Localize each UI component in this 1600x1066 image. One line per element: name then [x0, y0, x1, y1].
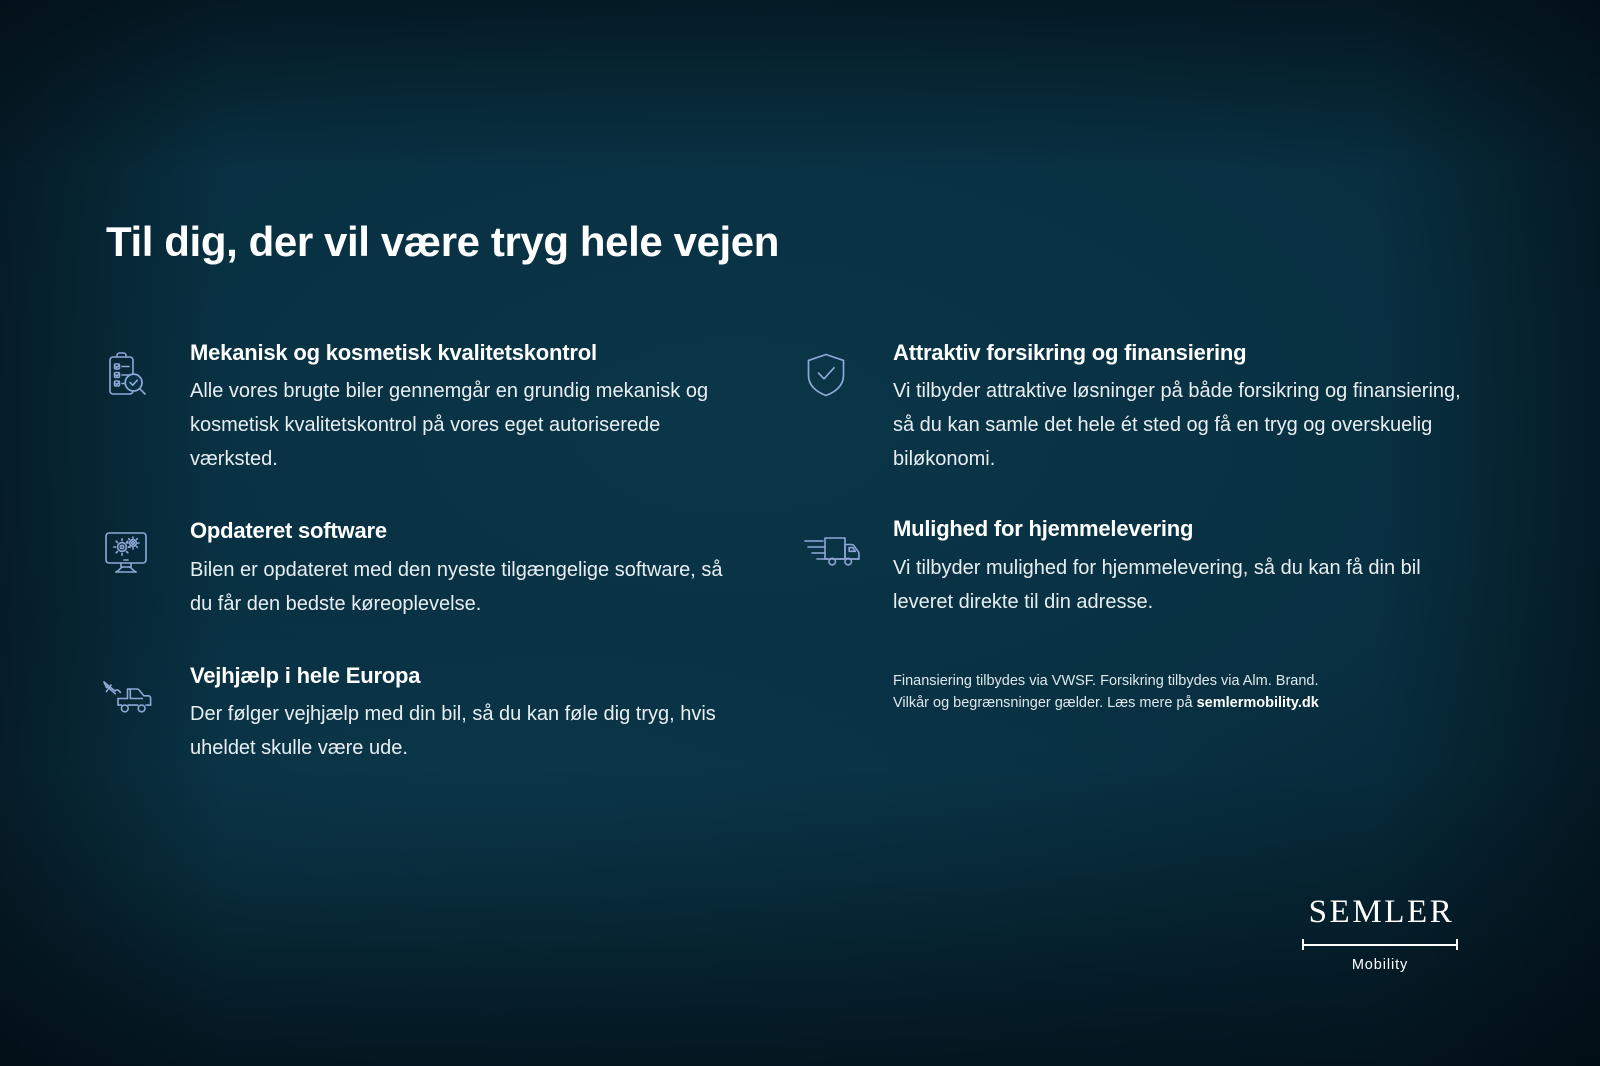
- feature-item-updated-software: Opdateret software Bilen er opdateret me…: [100, 518, 740, 620]
- content-stage: Til dig, der vil være tryg hele vejen: [0, 0, 1600, 1066]
- feature-title: Attraktiv forsikring og finansiering: [893, 340, 1483, 366]
- feature-item-quality-control: Mekanisk og kosmetisk kvalitetskontrol A…: [100, 340, 740, 476]
- logo-rule-cap-right: [1456, 939, 1458, 950]
- semler-mobility-logo: SEMLER Mobility: [1302, 896, 1458, 973]
- feature-title: Mekanisk og kosmetisk kvalitetskontrol: [190, 340, 740, 366]
- feature-column-left: Mekanisk og kosmetisk kvalitetskontrol A…: [100, 340, 740, 799]
- delivery-truck-icon: [803, 522, 867, 580]
- disclaimer-line-1: Finansiering tilbydes via VWSF. Forsikri…: [893, 670, 1413, 692]
- logo-wordmark: SEMLER: [1302, 896, 1458, 929]
- feature-column-right: Attraktiv forsikring og finansiering Vi …: [803, 340, 1483, 643]
- feature-text: Vi tilbyder mulighed for hjemmelevering,…: [893, 551, 1483, 619]
- feature-body: Mulighed for hjemmelevering Vi tilbyder …: [867, 516, 1483, 618]
- feature-title: Opdateret software: [190, 518, 740, 544]
- feature-item-insurance-financing: Attraktiv forsikring og finansiering Vi …: [803, 340, 1483, 476]
- logo-subtitle: Mobility: [1302, 957, 1458, 973]
- feature-item-home-delivery: Mulighed for hjemmelevering Vi tilbyder …: [803, 516, 1483, 618]
- disclaimer-text: Finansiering tilbydes via VWSF. Forsikri…: [893, 670, 1413, 714]
- feature-body: Vejhjælp i hele Europa Der følger vejhjæ…: [164, 663, 740, 765]
- feature-body: Mekanisk og kosmetisk kvalitetskontrol A…: [164, 340, 740, 476]
- tow-truck-icon: [100, 669, 164, 727]
- disclaimer-line-2: Vilkår og begrænsninger gælder. Læs mere…: [893, 692, 1413, 714]
- monitor-gears-icon: [100, 524, 164, 582]
- clipboard-checklist-magnifier-icon: [100, 346, 164, 404]
- feature-body: Attraktiv forsikring og finansiering Vi …: [867, 340, 1483, 476]
- feature-text: Bilen er opdateret med den nyeste tilgæn…: [190, 553, 740, 621]
- feature-body: Opdateret software Bilen er opdateret me…: [164, 518, 740, 620]
- feature-item-roadside-assistance: Vejhjælp i hele Europa Der følger vejhjæ…: [100, 663, 740, 765]
- page-title: Til dig, der vil være tryg hele vejen: [106, 218, 779, 266]
- disclaimer-website-link[interactable]: semlermobility.dk: [1197, 695, 1319, 711]
- logo-rule-cap-left: [1302, 939, 1304, 950]
- feature-title: Vejhjælp i hele Europa: [190, 663, 740, 689]
- logo-divider-rule: [1302, 939, 1458, 950]
- disclaimer-line-2-prefix: Vilkår og begrænsninger gælder. Læs mere…: [893, 695, 1197, 711]
- feature-title: Mulighed for hjemmelevering: [893, 516, 1483, 542]
- feature-text: Vi tilbyder attraktive løsninger på både…: [893, 374, 1483, 476]
- feature-text: Der følger vejhjælp med din bil, så du k…: [190, 697, 740, 765]
- shield-check-icon: [803, 346, 867, 404]
- feature-text: Alle vores brugte biler gennemgår en gru…: [190, 374, 740, 476]
